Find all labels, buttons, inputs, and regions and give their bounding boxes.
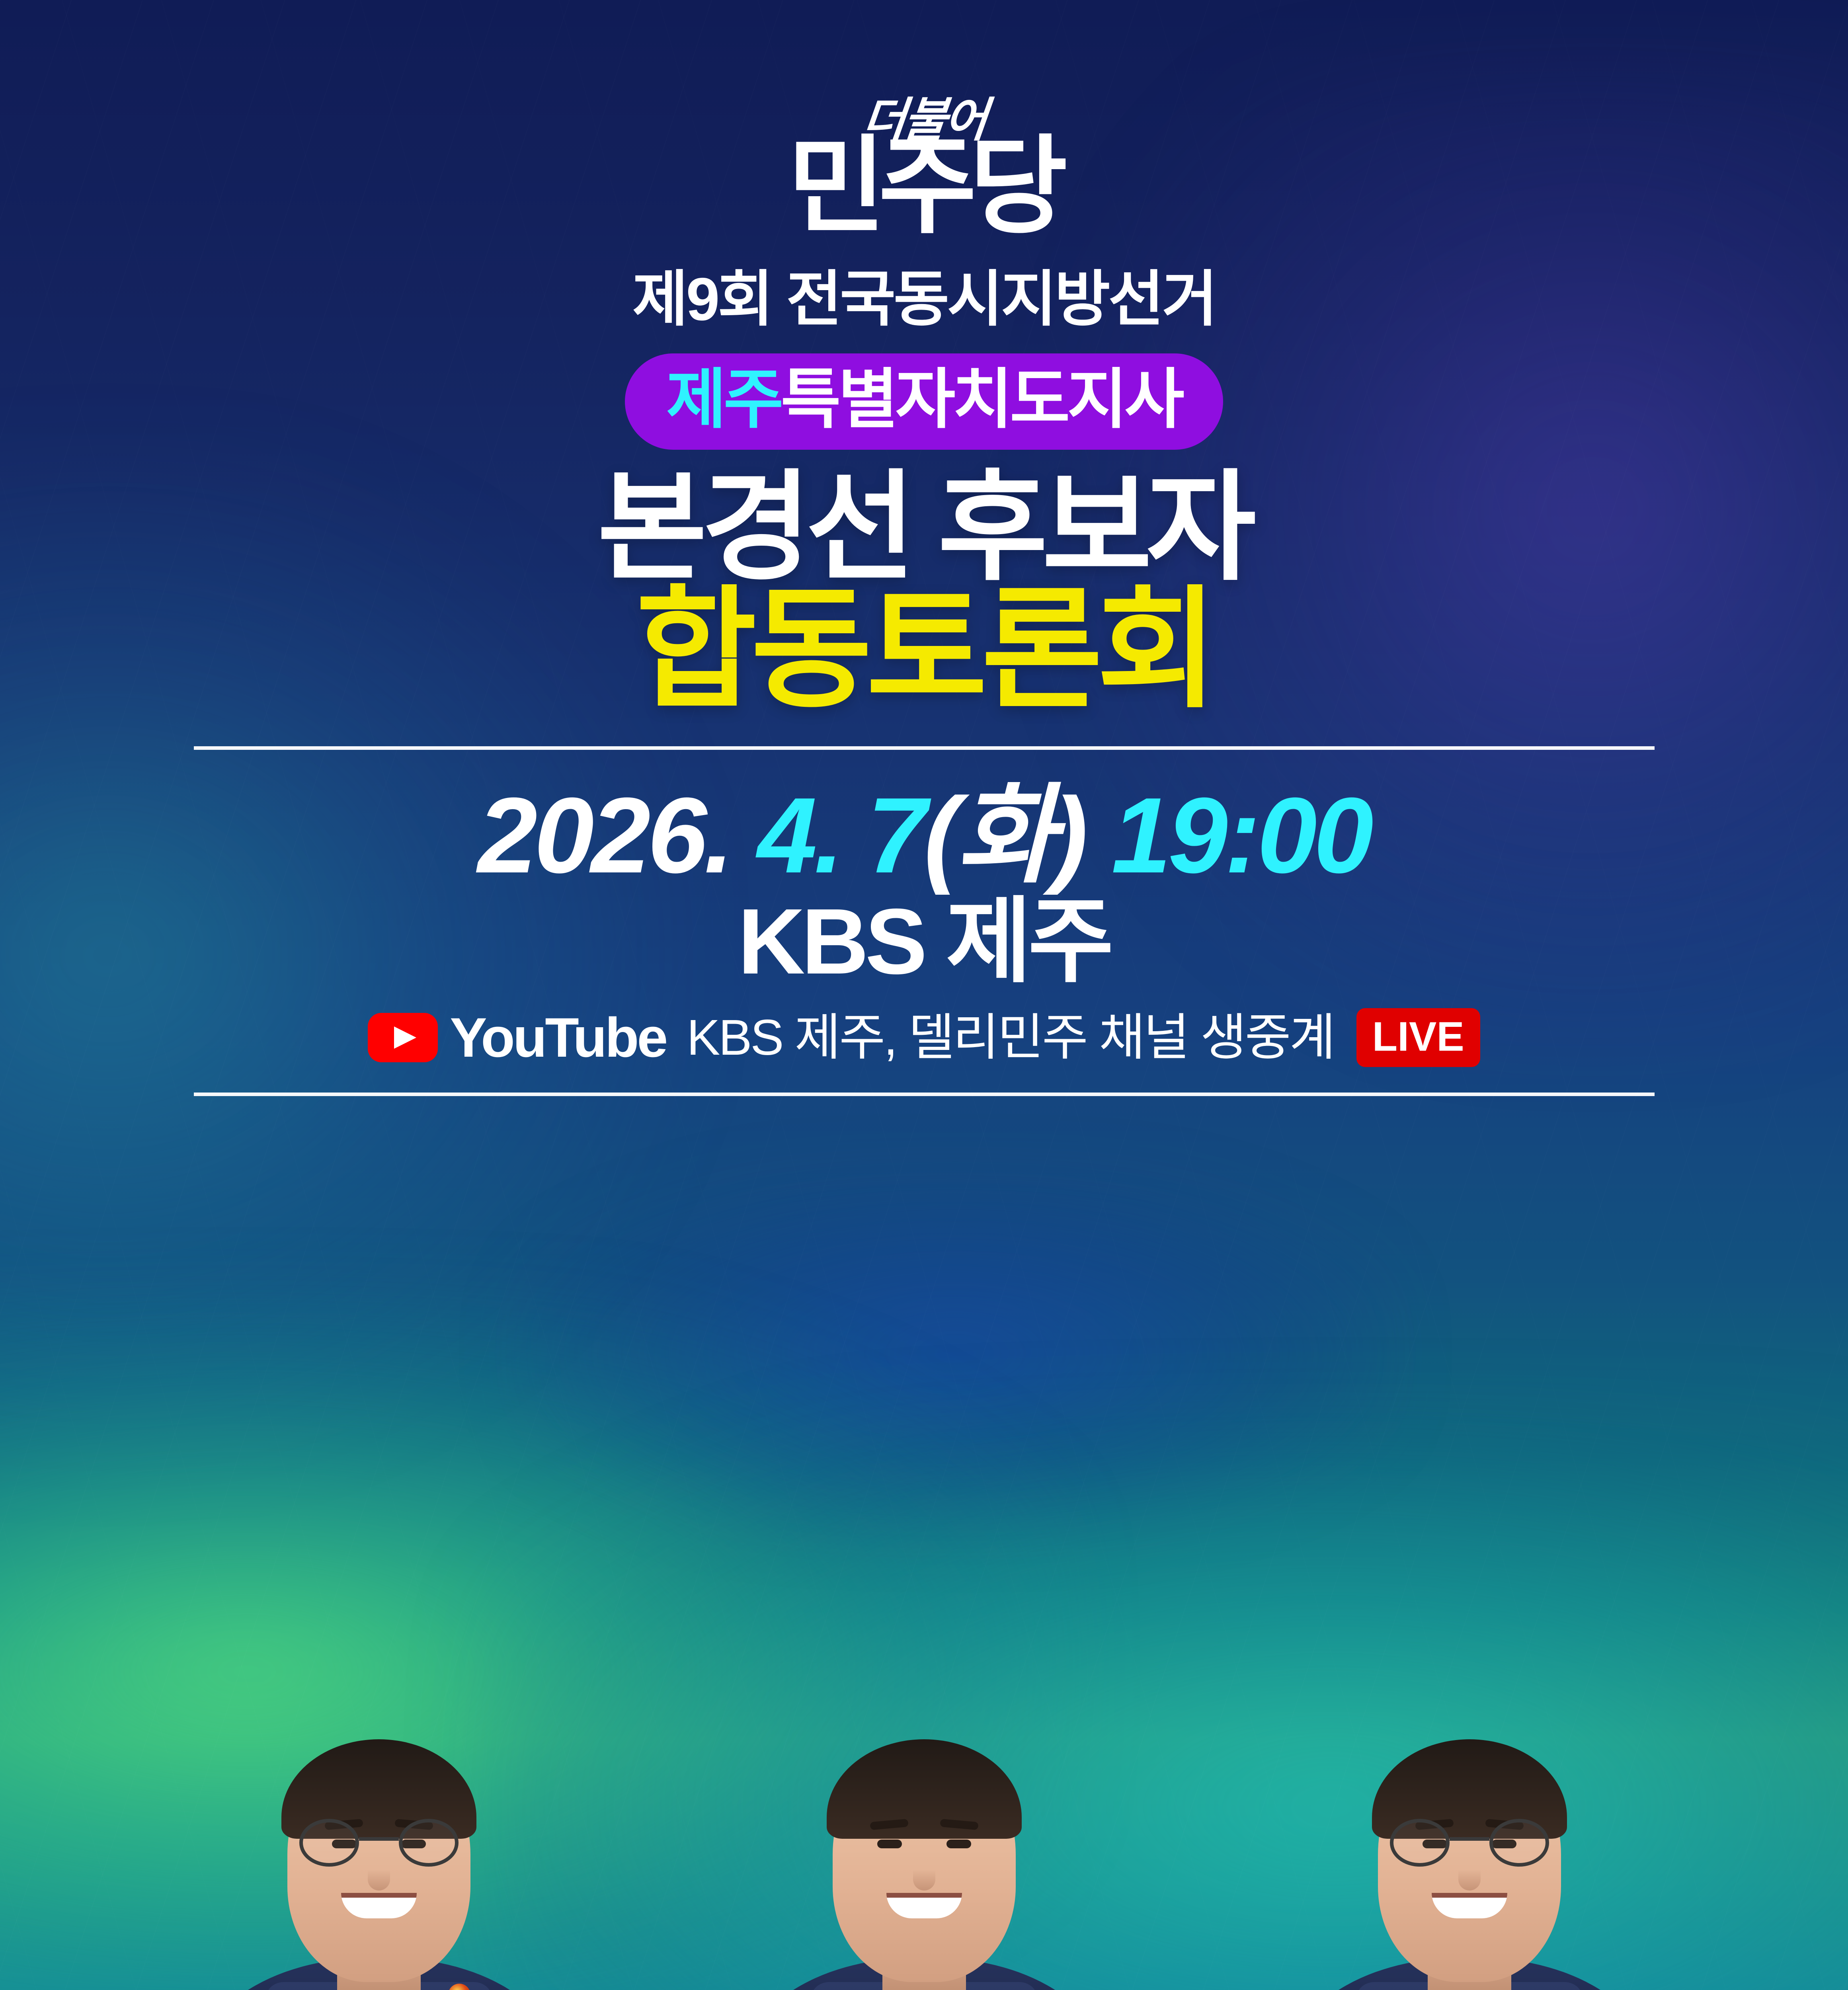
candidate-card: 기호 2번 오영훈	[701, 1544, 1147, 1990]
poster-root: 더불어 민주당 제9회 전국동시지방선거 제주특별자치도지사 본경선 후보자 합…	[0, 0, 1848, 1990]
event-month-day: 4. 7	[757, 776, 924, 895]
main-title-line-1: 본경선 후보자	[0, 466, 1848, 588]
candidate-card: 기호 1번 위성곤	[156, 1544, 602, 1990]
broadcast-row: YouTube KBS 제주, 델리민주 채널 생중계 LIVE	[0, 1008, 1848, 1067]
party-logo: 더불어 민주당	[0, 0, 1848, 236]
main-title-line-2: 합동토론회	[0, 583, 1848, 717]
youtube-label: YouTube	[450, 1010, 666, 1065]
event-year: 2026.	[478, 776, 731, 895]
candidates-section: 기호 1번 위성곤 기호 2번 오영훈	[0, 1496, 1848, 1990]
live-badge: LIVE	[1356, 1008, 1480, 1067]
divider-bottom	[194, 1093, 1655, 1096]
event-time: 19:00	[1111, 776, 1370, 895]
badge-office: 특별자치도지사	[781, 363, 1182, 436]
election-name: 제9회 전국동시지방선거	[0, 250, 1848, 338]
badge-region: 제주	[666, 363, 781, 436]
youtube-play-icon	[368, 1013, 438, 1062]
party-logo-main: 민주당	[0, 137, 1848, 236]
party-logo-sub: 더불어	[0, 100, 1848, 140]
glasses-icon	[1390, 1819, 1549, 1867]
hair	[827, 1739, 1022, 1839]
event-venue: KBS 제주	[0, 893, 1848, 991]
eye-right	[946, 1840, 971, 1848]
eye-left	[877, 1840, 902, 1848]
header-section: 더불어 민주당 제9회 전국동시지방선거 제주특별자치도지사 본경선 후보자 합…	[0, 0, 1848, 1096]
broadcast-channels: KBS 제주, 델리민주 채널 생중계	[687, 1013, 1334, 1063]
glasses-icon	[299, 1819, 459, 1867]
candidate-photo	[188, 1592, 570, 1990]
event-datetime: 2026. 4. 7(화) 19:00	[0, 781, 1848, 890]
candidate-card: 기호 3번 문대림	[1247, 1544, 1692, 1990]
office-badge-row: 제주특별자치도지사	[0, 353, 1848, 450]
candidate-photo	[733, 1592, 1115, 1990]
candidate-photo	[1278, 1592, 1661, 1990]
office-badge: 제주특별자치도지사	[625, 353, 1223, 450]
event-day-of-week: (화)	[924, 776, 1085, 895]
divider-top	[194, 746, 1655, 750]
